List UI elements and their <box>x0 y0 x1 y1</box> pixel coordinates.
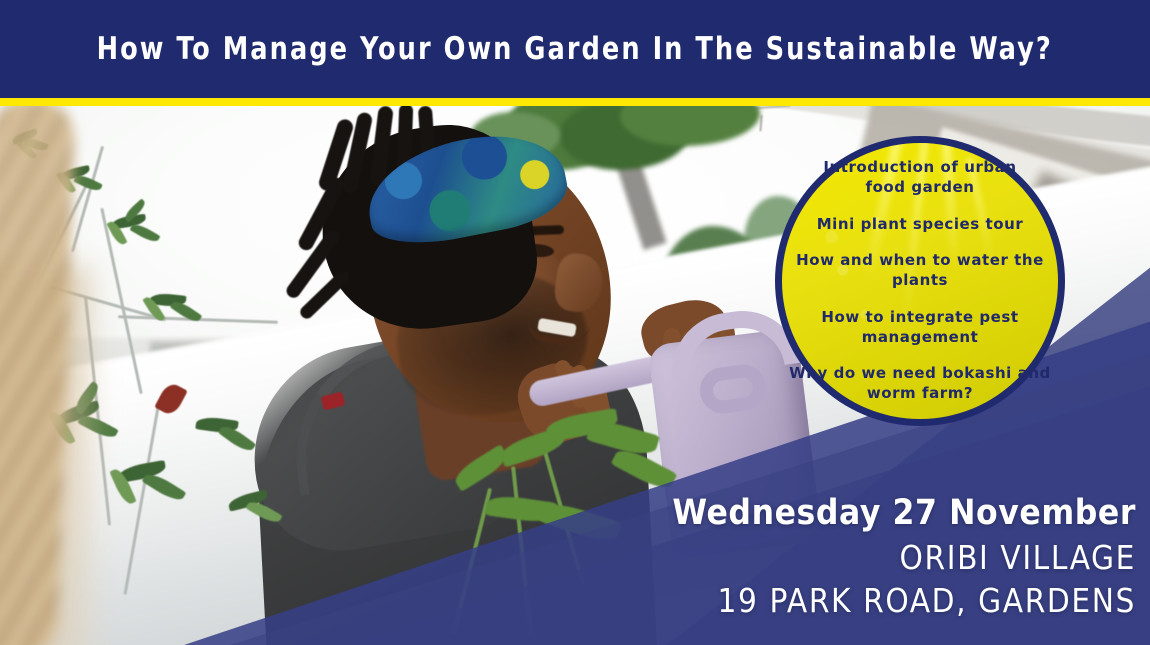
event-date: Wednesday 27 November <box>672 491 1136 536</box>
event-venue: ORIBI VILLAGE <box>672 536 1136 580</box>
topic-item: How and when to water the plants <box>779 251 1061 291</box>
event-address: 19 PARK ROAD, GARDENS <box>672 579 1136 623</box>
topic-item: Introduction of urban food garden <box>823 158 1016 198</box>
topics-circle: Introduction of urban food garden Mini p… <box>775 136 1065 426</box>
poster-header: How To Manage Your Own Garden In The Sus… <box>0 0 1150 98</box>
topics-list: Introduction of urban food garden Mini p… <box>775 136 1065 426</box>
header-accent-rule <box>0 98 1150 106</box>
topic-item: How to integrate pest management <box>779 308 1061 348</box>
topic-item: Why do we need bokashi and worm farm? <box>789 364 1051 404</box>
topic-item: Mini plant species tour <box>817 215 1024 235</box>
hanging-wire <box>759 115 786 133</box>
event-poster: How To Manage Your Own Garden In The Sus… <box>0 0 1150 645</box>
event-details: Wednesday 27 November ORIBI VILLAGE 19 P… <box>672 491 1136 623</box>
page-title: How To Manage Your Own Garden In The Sus… <box>97 31 1053 67</box>
